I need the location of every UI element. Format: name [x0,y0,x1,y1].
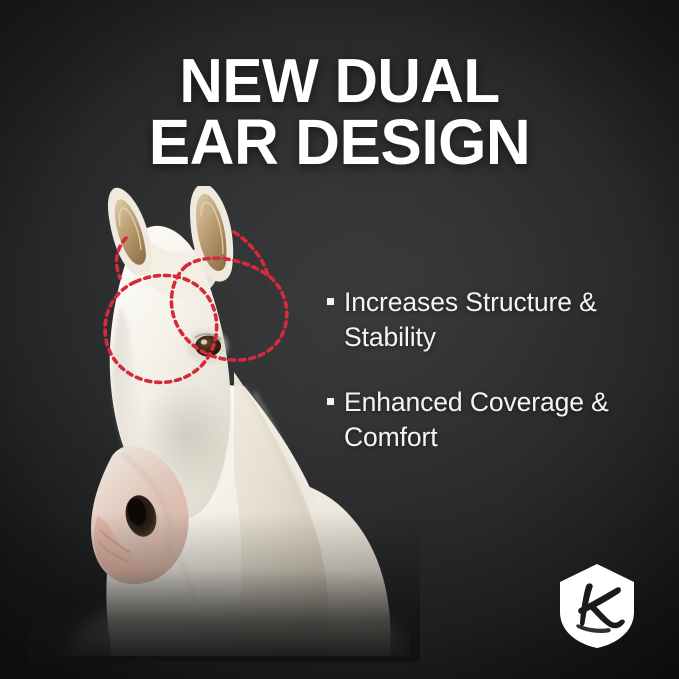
feature-text: Enhanced Coverage & Comfort [344,385,657,455]
headline-line-1: NEW DUAL [10,52,669,112]
shield-icon [556,562,638,650]
brand-logo [556,562,638,650]
feature-text: Increases Structure & Stability [344,285,657,355]
square-bullet-icon [327,398,334,405]
headline: NEW DUAL EAR DESIGN [10,52,669,172]
feature-list: Increases Structure & Stability Enhanced… [327,285,657,455]
horse-eye [186,329,228,363]
headline-line-2: EAR DESIGN [10,112,669,172]
feature-item: Enhanced Coverage & Comfort [327,385,657,455]
horse-ear-left [108,188,152,276]
square-bullet-icon [327,298,334,305]
feature-item: Increases Structure & Stability [327,285,657,355]
marketing-graphic-canvas: NEW DUAL EAR DESIGN Increases Structure … [0,0,679,679]
